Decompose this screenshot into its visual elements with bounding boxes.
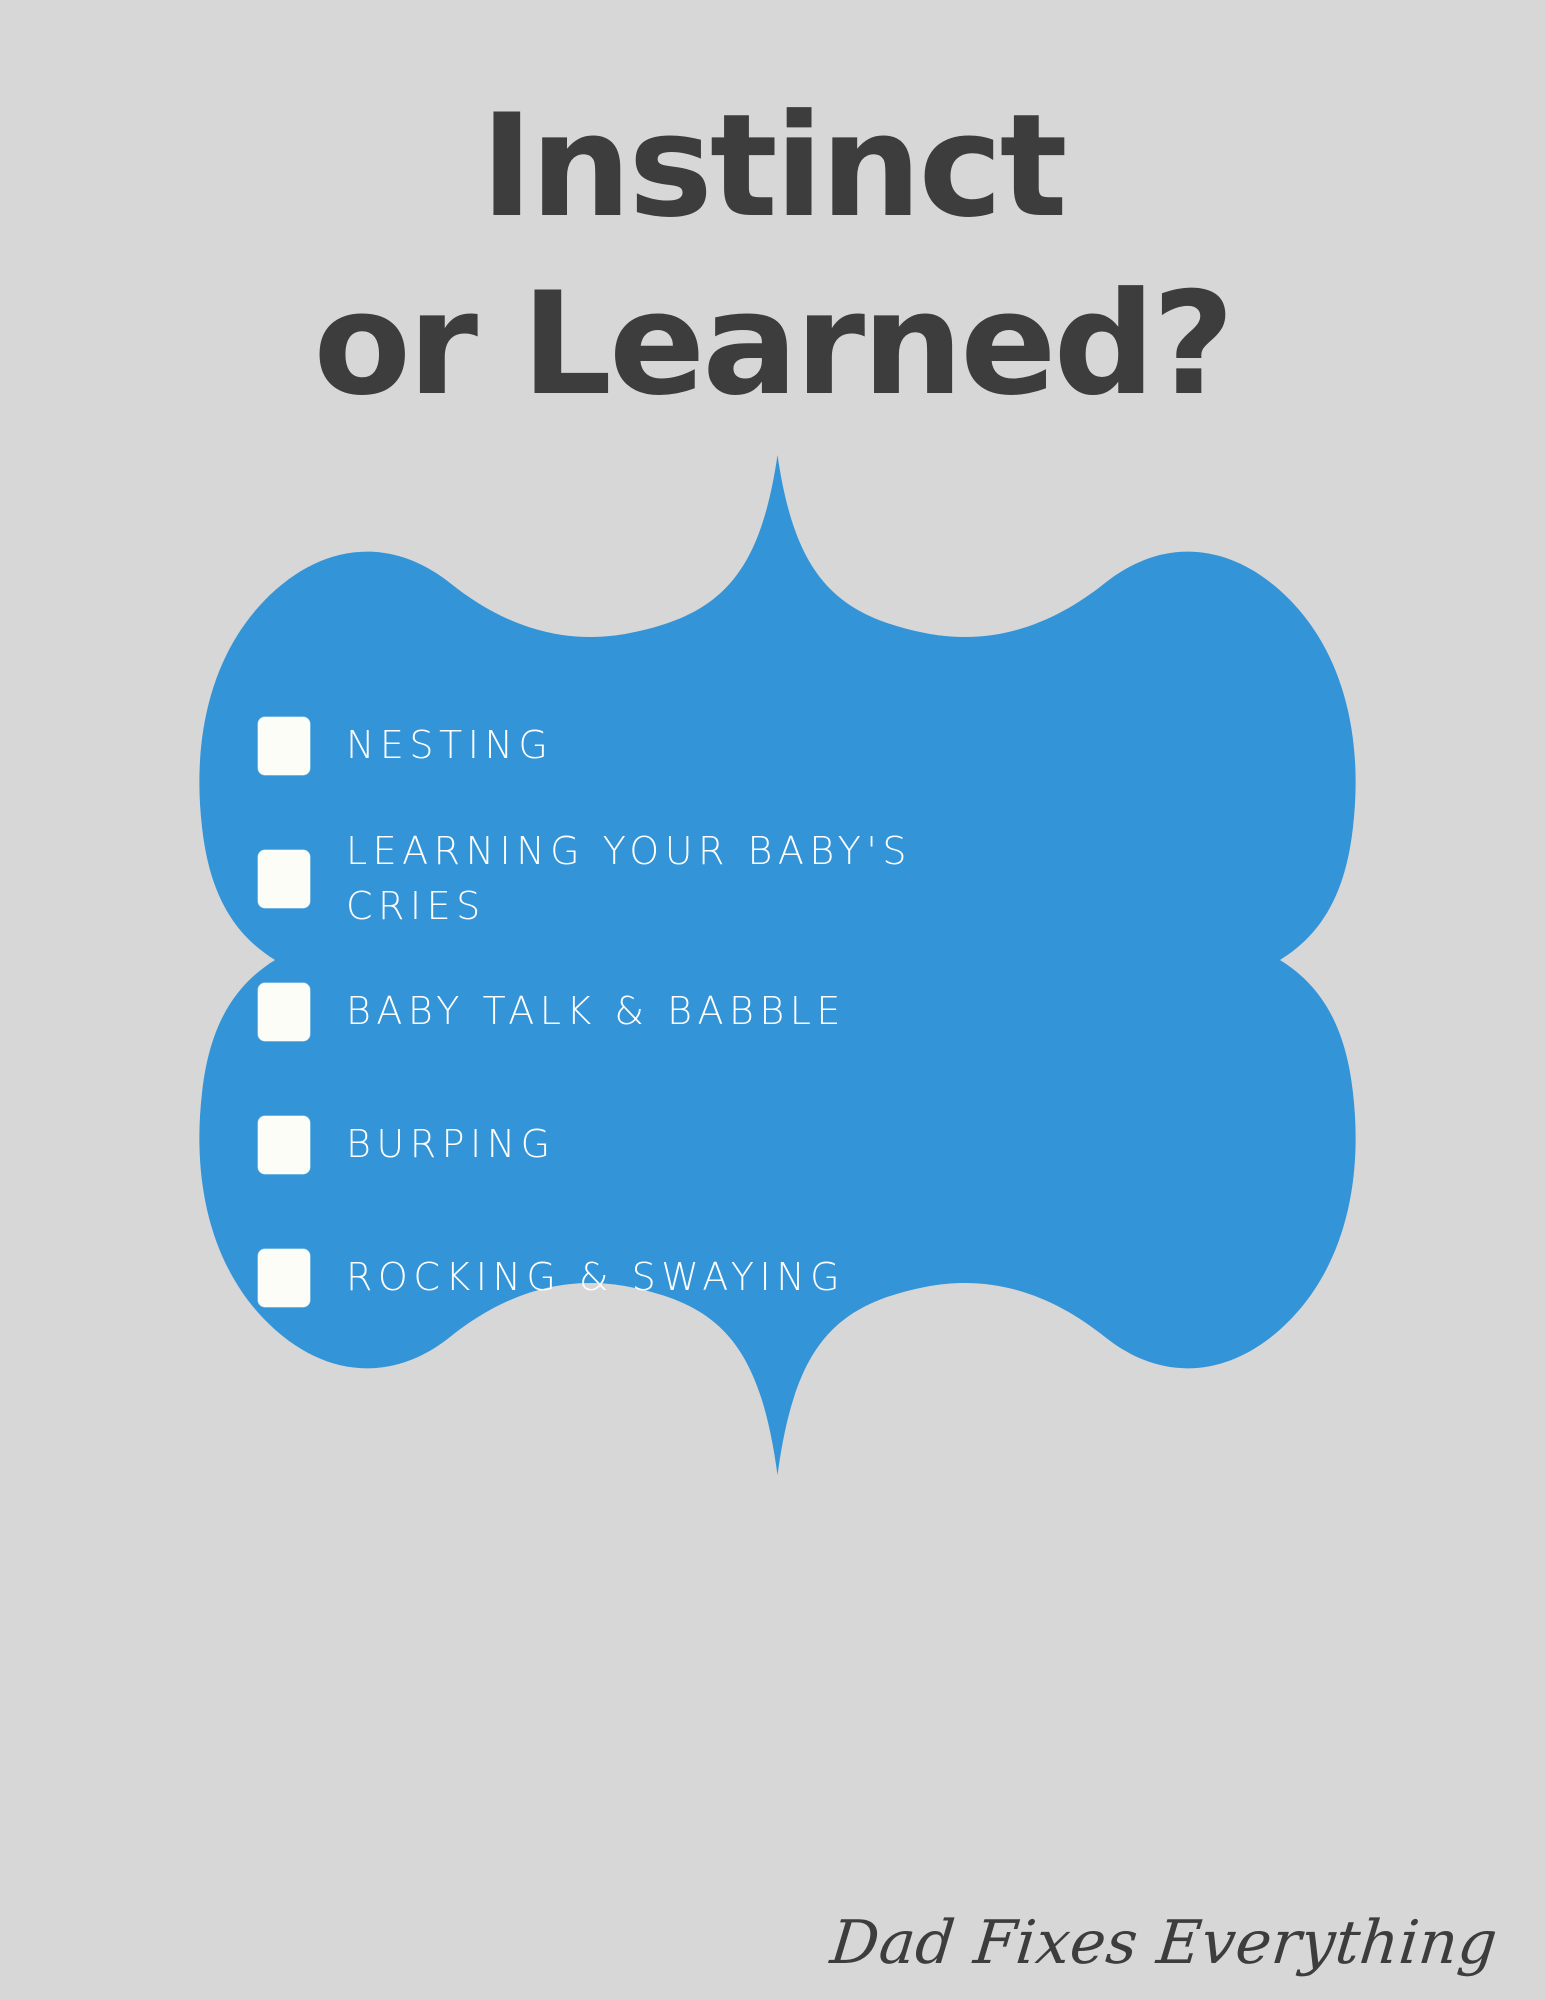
list-item[interactable]: BURPING	[258, 1089, 1058, 1201]
poster-canvas: Instinct or Learned? NESTING LEARNING YO…	[0, 0, 1545, 2000]
page-title: Instinct or Learned?	[0, 78, 1545, 433]
checkbox-icon[interactable]	[258, 1116, 310, 1174]
checkbox-icon[interactable]	[258, 717, 310, 775]
list-item-label: BURPING	[346, 1117, 556, 1172]
list-item[interactable]: BABY TALK & BABBLE	[258, 956, 1058, 1068]
checklist: NESTING LEARNING YOUR BABY'S CRIES BABY …	[258, 690, 1058, 1334]
title-line-2: or Learned?	[0, 256, 1545, 434]
list-item[interactable]: LEARNING YOUR BABY'S CRIES	[258, 823, 1058, 935]
list-item-label: NESTING	[346, 718, 553, 773]
list-item[interactable]: NESTING	[258, 690, 1058, 802]
checkbox-icon[interactable]	[258, 983, 310, 1041]
list-item-label: LEARNING YOUR BABY'S CRIES	[346, 824, 946, 934]
list-item-label: ROCKING & SWAYING	[346, 1250, 845, 1305]
list-item-label: BABY TALK & BABBLE	[346, 984, 846, 1039]
title-line-1: Instinct	[0, 78, 1545, 256]
brand-signature: Dad Fixes Everything	[827, 1908, 1501, 1978]
list-item[interactable]: ROCKING & SWAYING	[258, 1222, 1058, 1334]
checkbox-icon[interactable]	[258, 850, 310, 908]
checkbox-icon[interactable]	[258, 1249, 310, 1307]
